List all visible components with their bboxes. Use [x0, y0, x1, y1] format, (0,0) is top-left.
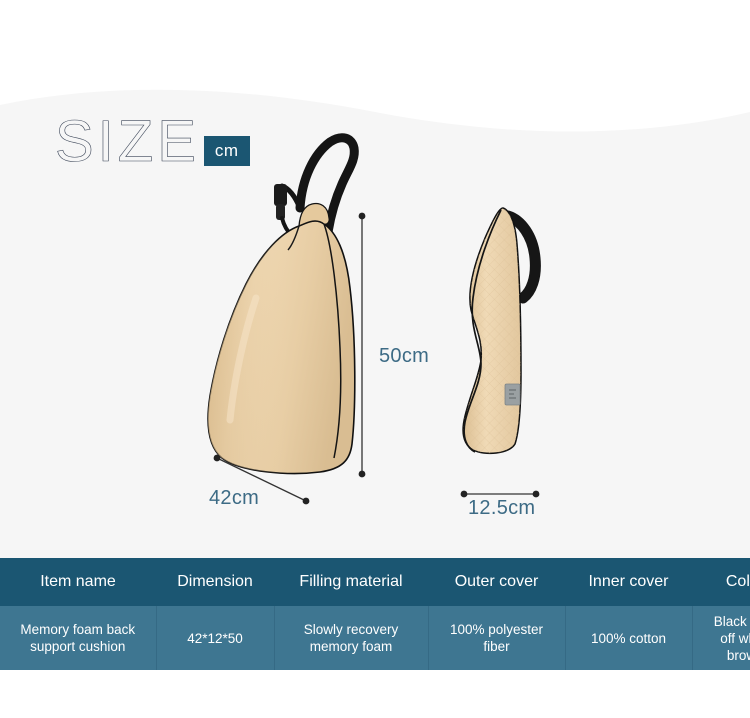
- table-header-row: Item name Dimension Filling material Out…: [0, 558, 750, 606]
- column-header-color: Color: [692, 558, 750, 606]
- cell-dimension: 42*12*50: [156, 606, 274, 670]
- column-header-filling: Filling material: [274, 558, 428, 606]
- column-header-inner-cover: Inner cover: [565, 558, 692, 606]
- cushion-front-illustration-icon: [196, 128, 396, 488]
- cell-inner-cover: 100% cotton: [565, 606, 692, 670]
- column-header-dimension: Dimension: [156, 558, 274, 606]
- cell-outer-cover: 100% polyester fiber: [428, 606, 565, 670]
- column-header-item-name: Item name: [0, 558, 156, 606]
- size-infographic-page: SIZE cm: [0, 0, 750, 718]
- cell-filling-material: Slowly recovery memory foam: [274, 606, 428, 670]
- cushion-side-illustration-icon: [445, 200, 585, 470]
- product-side-view: [445, 200, 585, 475]
- specification-table: Item name Dimension Filling material Out…: [0, 558, 750, 670]
- table-row: Memory foam back support cushion 42*12*5…: [0, 606, 750, 670]
- column-header-outer-cover: Outer cover: [428, 558, 565, 606]
- page-title: SIZE: [55, 113, 200, 171]
- cell-color: Black gray off white brown: [692, 606, 750, 670]
- cell-item-name: Memory foam back support cushion: [0, 606, 156, 670]
- product-front-view: [196, 128, 396, 493]
